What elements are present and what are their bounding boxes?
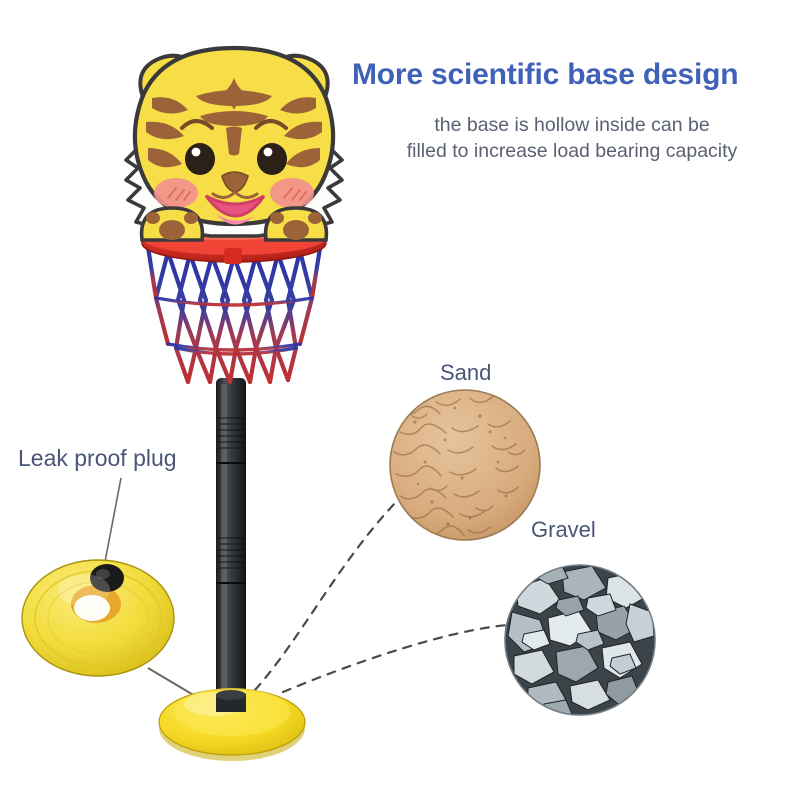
basketball-net [148,247,320,382]
leader-line-plug-label [104,478,121,567]
dashed-connector-gravel [283,625,508,692]
tiger-backboard [126,48,342,240]
telescoping-pole [216,378,246,708]
gravel-sample-circle [505,562,655,718]
sand-sample-circle [390,390,540,540]
infographic-canvas: More scientific base design the base is … [0,0,800,800]
product-illustration [0,0,800,800]
hollow-base [159,688,305,761]
leak-proof-plug-part [22,560,174,676]
dashed-connector-sand [255,500,398,690]
